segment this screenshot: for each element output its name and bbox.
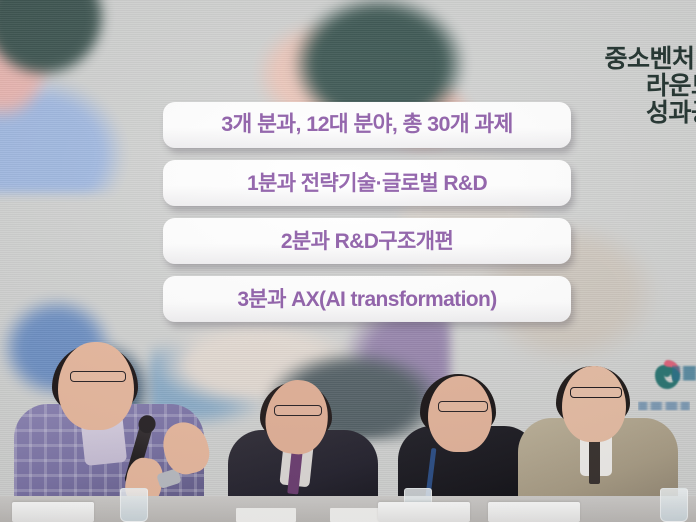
caption-pill-label: 3분과 AX(AI transformation) xyxy=(237,289,496,310)
caption-pill: 3분과 AX(AI transformation) xyxy=(163,276,571,322)
water-glass xyxy=(120,488,148,522)
name-placard xyxy=(378,502,470,522)
glasses-icon xyxy=(70,371,126,382)
caption-pill: 1분과 전략기술·글로벌 R&D xyxy=(163,160,571,206)
glasses-icon xyxy=(570,387,622,398)
water-glass xyxy=(660,488,688,522)
name-placard xyxy=(12,502,94,522)
caption-pill-label: 1분과 전략기술·글로벌 R&D xyxy=(247,173,487,194)
panelist-3-head xyxy=(428,376,492,452)
headline-line-2: 라운드ㅌ xyxy=(604,73,696,100)
caption-pill-label: 2분과 R&D구조개편 xyxy=(281,231,453,252)
headline-line-1-main: 중소벤처 xyxy=(604,45,696,73)
panelist-4-head xyxy=(562,366,626,442)
caption-pill-label: 3개 분과, 12대 분야, 총 30개 과제 xyxy=(221,114,513,136)
caption-pill: 2분과 R&D구조개편 xyxy=(163,218,571,264)
headline-line-1: 중소벤처 R& xyxy=(604,46,696,73)
glasses-icon xyxy=(438,401,488,412)
panelist-1-head xyxy=(58,342,134,430)
caption-pill-list: 3개 분과, 12대 분야, 총 30개 과제 1분과 전략기술·글로벌 R&D… xyxy=(163,102,571,322)
projected-figure xyxy=(0,0,151,193)
name-placard xyxy=(488,502,580,522)
document xyxy=(236,508,296,522)
panel-table-foreground xyxy=(0,322,696,522)
headline-line-3: 성과공유 xyxy=(604,100,696,127)
press-conference-photo: 중소벤처 R& 라운드ㅌ 성과공유 3개 분과, 12대 분야, 총 30개 과… xyxy=(0,0,696,522)
glasses-icon xyxy=(274,405,322,416)
panelist-1 xyxy=(8,332,218,522)
event-headline: 중소벤처 R& 라운드ㅌ 성과공유 xyxy=(604,46,696,127)
caption-pill: 3개 분과, 12대 분야, 총 30개 과제 xyxy=(163,102,571,148)
